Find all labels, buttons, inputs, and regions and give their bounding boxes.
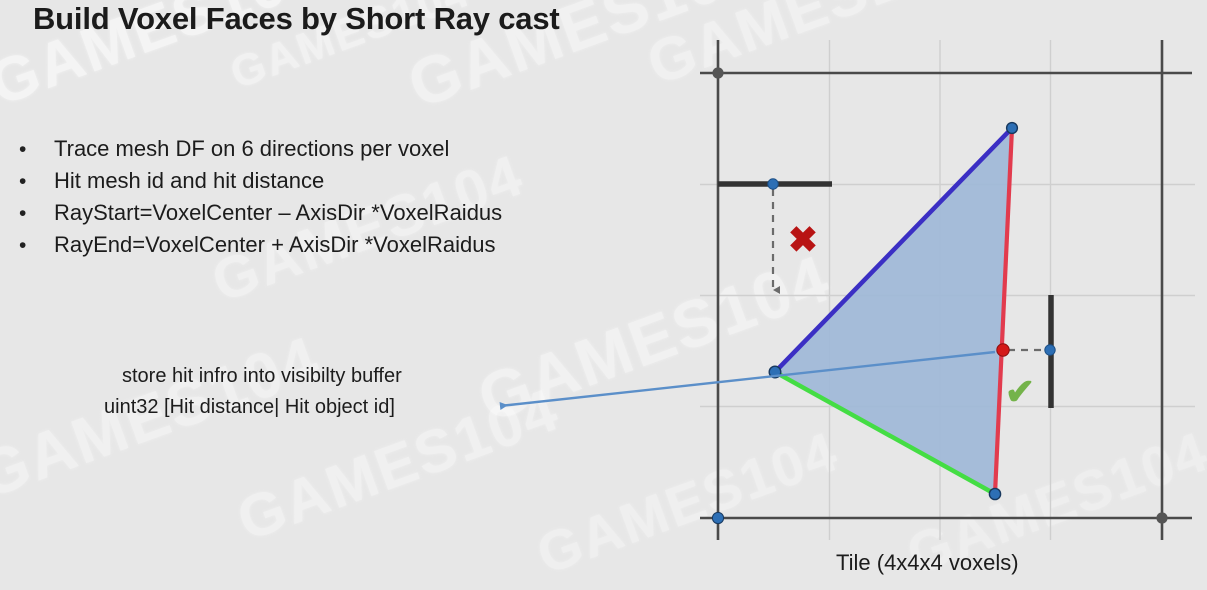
watermark-text: GAMES104 (638, 0, 977, 98)
bullet-text: RayStart=VoxelCenter – AxisDir *VoxelRai… (54, 200, 502, 226)
voxel-tile-diagram: ✖ ✔ (0, 0, 1207, 590)
bullet-marker-icon: • (16, 170, 54, 194)
ray-start-dot-miss (768, 179, 778, 189)
triangle-edge-green (775, 372, 995, 494)
tile-border (700, 40, 1192, 540)
bullet-text: Trace mesh DF on 6 directions per voxel (54, 136, 449, 162)
list-item: • Trace mesh DF on 6 directions per voxe… (16, 136, 656, 168)
bullet-marker-icon: • (16, 202, 54, 226)
bullet-text: RayEnd=VoxelCenter + AxisDir *VoxelRaidu… (54, 232, 495, 258)
bullet-text: Hit mesh id and hit distance (54, 168, 324, 194)
tile-corner-dot (712, 512, 723, 523)
hit-check-icon: ✔ (1005, 371, 1035, 412)
list-item: • RayEnd=VoxelCenter + AxisDir *VoxelRai… (16, 232, 656, 264)
bullet-list: • Trace mesh DF on 6 directions per voxe… (16, 136, 656, 264)
triangle-vertex-dot (989, 488, 1000, 499)
slide-title: Build Voxel Faces by Short Ray cast (33, 1, 560, 37)
visibility-buffer-callout-arrow (500, 352, 995, 406)
list-item: • Hit mesh id and hit distance (16, 168, 656, 200)
miss-cross-icon: ✖ (788, 219, 818, 260)
visibility-buffer-note-line2: uint32 [Hit distance| Hit object id] (104, 396, 395, 419)
tile-corner-dot (712, 67, 723, 78)
triangle-edge-red (995, 128, 1012, 494)
grid-lines (700, 40, 1195, 540)
mesh-triangle-fill (775, 128, 1012, 494)
ray-end-dot-hit (1045, 345, 1055, 355)
diagram-caption: Tile (4x4x4 voxels) (836, 550, 1019, 576)
visibility-buffer-note-line1: store hit infro into visibilty buffer (122, 365, 402, 388)
triangle-edge-blue (775, 128, 1012, 372)
triangle-vertex-dot (1007, 123, 1018, 134)
hit-point-dot (997, 344, 1009, 356)
triangle-vertex-dot (769, 366, 781, 378)
list-item: • RayStart=VoxelCenter – AxisDir *VoxelR… (16, 200, 656, 232)
tile-corner-dot (1156, 512, 1167, 523)
watermark-text: GAMES104 (468, 239, 840, 436)
bullet-marker-icon: • (16, 138, 54, 162)
watermark-text: GAMES104 (528, 418, 846, 587)
bullet-marker-icon: • (16, 234, 54, 258)
